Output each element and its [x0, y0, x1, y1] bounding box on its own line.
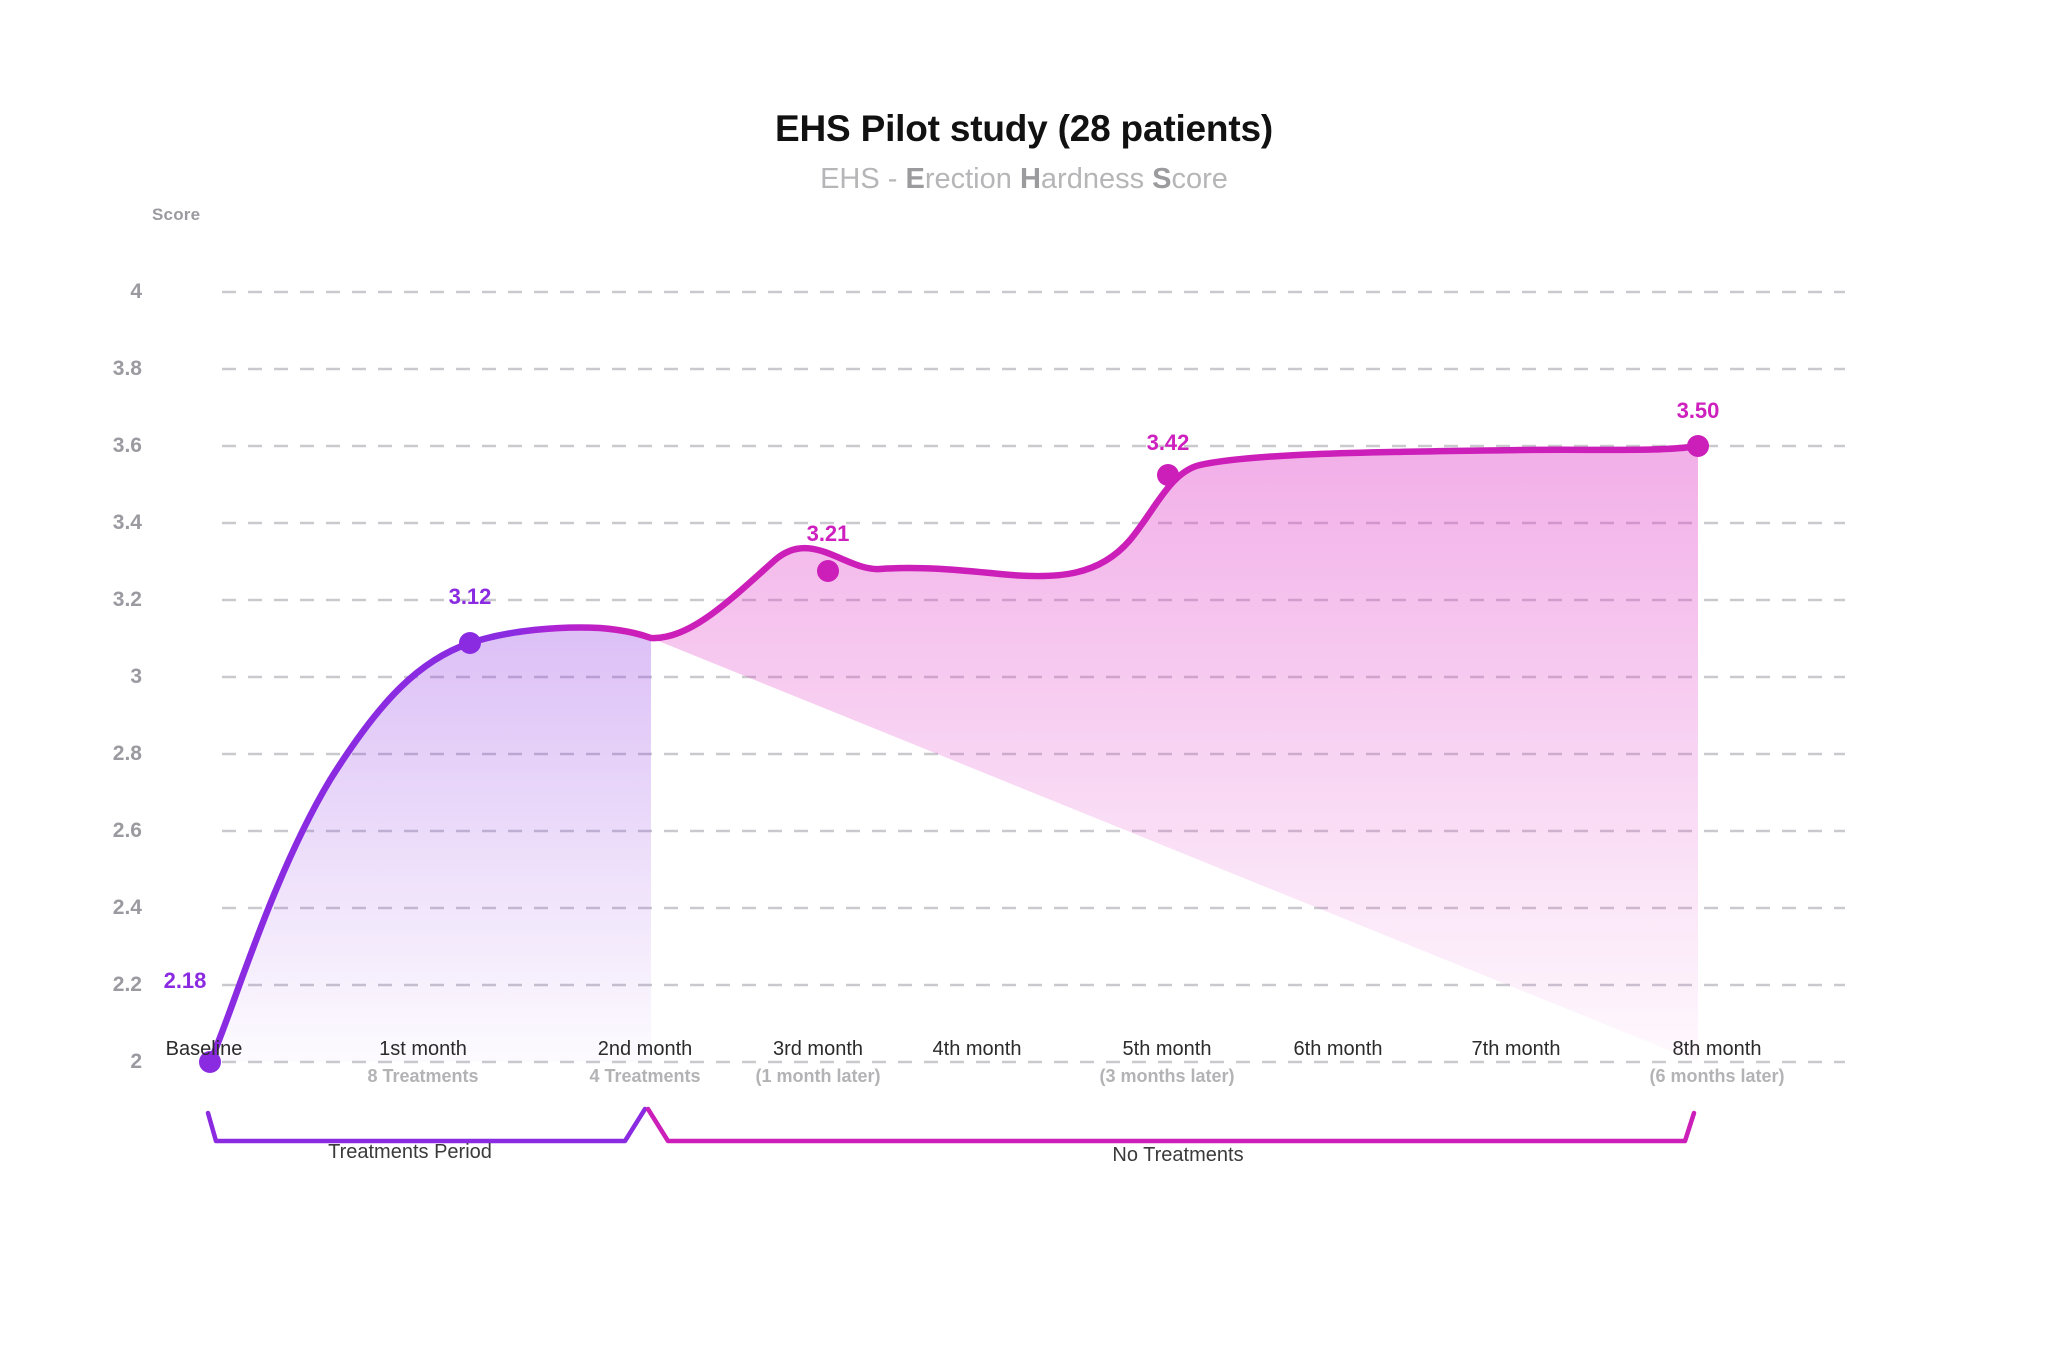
x-tick-4th-month: 4th month: [933, 1038, 1022, 1061]
data-point-1st-month: [459, 632, 481, 654]
x-tick-8th-month: 8th month (6 months later): [1649, 1038, 1784, 1087]
chart-canvas: EHS Pilot study (28 patients) EHS - Erec…: [0, 0, 2048, 1354]
value-label-1st-month: 3.12: [449, 584, 492, 610]
y-tick-2-6: 2.6: [52, 819, 142, 843]
x-tick-1st-month-sublabel: 8 Treatments: [367, 1066, 478, 1087]
x-tick-7th-month-label: 7th month: [1472, 1038, 1561, 1061]
data-point-8th-month: [1687, 435, 1709, 457]
x-tick-5th-month: 5th month (3 months later): [1099, 1038, 1234, 1087]
y-tick-2-2: 2.2: [52, 973, 142, 997]
y-tick-3: 3: [52, 665, 142, 689]
x-tick-3rd-month: 3rd month (1 month later): [755, 1038, 880, 1087]
x-tick-5th-month-label: 5th month: [1099, 1038, 1234, 1061]
value-label-5th-month: 3.42: [1147, 430, 1190, 456]
x-tick-6th-month-label: 6th month: [1294, 1038, 1383, 1061]
value-label-3rd-month: 3.21: [807, 521, 850, 547]
bracket-no-treatments: [648, 1109, 1694, 1141]
y-tick-3-6: 3.6: [52, 434, 142, 458]
data-point-3rd-month: [817, 560, 839, 582]
x-tick-5th-month-sublabel: (3 months later): [1099, 1066, 1234, 1087]
x-tick-baseline-label: Baseline: [166, 1038, 243, 1061]
y-tick-3-2: 3.2: [52, 588, 142, 612]
bracket-label-no-treatments: No Treatments: [1112, 1144, 1243, 1167]
phase-brackets: [208, 1109, 1694, 1141]
series-area-fill: [210, 446, 1698, 1062]
x-tick-1st-month: 1st month 8 Treatments: [367, 1038, 478, 1087]
x-tick-2nd-month-sublabel: 4 Treatments: [589, 1066, 700, 1087]
x-tick-1st-month-label: 1st month: [367, 1038, 478, 1061]
value-label-8th-month: 3.50: [1677, 398, 1720, 424]
x-tick-6th-month: 6th month: [1294, 1038, 1383, 1061]
x-tick-3rd-month-label: 3rd month: [755, 1038, 880, 1061]
bracket-label-treatments-period: Treatments Period: [328, 1141, 492, 1164]
x-tick-baseline: Baseline: [166, 1038, 243, 1061]
data-point-5th-month: [1157, 464, 1179, 486]
plot-area: [0, 0, 2048, 1354]
value-label-baseline: 2.18: [164, 968, 207, 994]
y-tick-3-4: 3.4: [52, 511, 142, 535]
x-tick-2nd-month-label: 2nd month: [589, 1038, 700, 1061]
y-tick-2-8: 2.8: [52, 742, 142, 766]
y-tick-2: 2: [52, 1050, 142, 1074]
y-tick-4: 4: [52, 280, 142, 304]
x-tick-8th-month-sublabel: (6 months later): [1649, 1066, 1784, 1087]
y-tick-2-4: 2.4: [52, 896, 142, 920]
y-tick-3-8: 3.8: [52, 357, 142, 381]
x-tick-3rd-month-sublabel: (1 month later): [755, 1066, 880, 1087]
x-tick-4th-month-label: 4th month: [933, 1038, 1022, 1061]
x-tick-2nd-month: 2nd month 4 Treatments: [589, 1038, 700, 1087]
x-tick-7th-month: 7th month: [1472, 1038, 1561, 1061]
bracket-treatments-period: [208, 1109, 645, 1141]
x-tick-8th-month-label: 8th month: [1649, 1038, 1784, 1061]
